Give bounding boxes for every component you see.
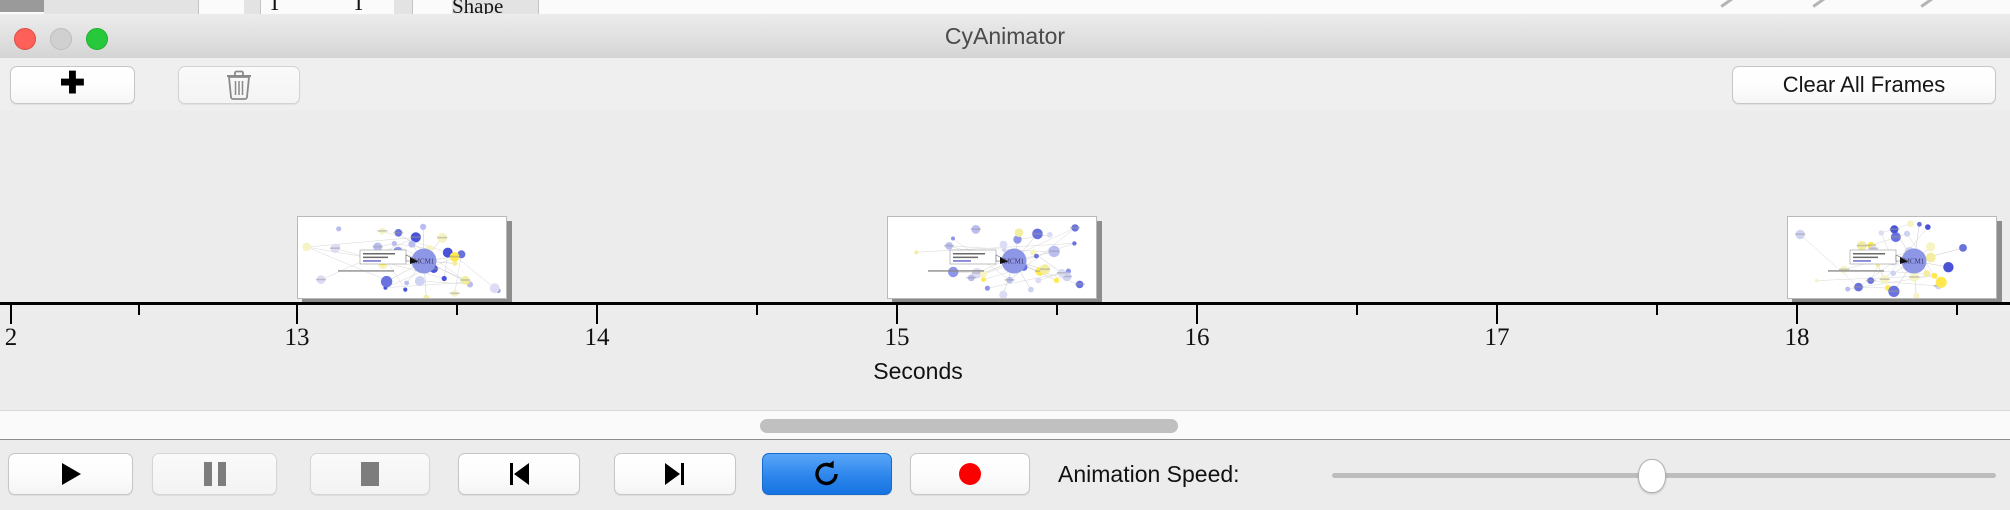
- skip-back-icon: [506, 460, 532, 488]
- axis-tick-label: 14: [585, 324, 610, 352]
- axis-tick: [456, 305, 458, 315]
- title-bar: CyAnimator: [0, 14, 2010, 59]
- skip-forward-icon: [662, 460, 688, 488]
- timeline-scrollbar-thumb[interactable]: [760, 419, 1178, 433]
- axis-tick: [1656, 305, 1658, 315]
- loop-button[interactable]: [762, 453, 892, 495]
- loop-icon: [812, 459, 842, 489]
- timeline-frame[interactable]: MCM1: [887, 216, 1102, 304]
- record-button[interactable]: [910, 453, 1030, 495]
- axis-tick: [1496, 305, 1498, 324]
- axis-tick-label: 16: [1185, 324, 1210, 352]
- axis-tick: [1356, 305, 1358, 315]
- play-icon: [58, 460, 84, 488]
- axis-title-label: Seconds: [873, 358, 963, 384]
- skip-to-start-button[interactable]: [458, 453, 580, 495]
- bg-window-word: Shape: [452, 0, 503, 15]
- axis-tick: [756, 305, 758, 315]
- axis-tick: [596, 305, 598, 324]
- axis-tick: [138, 305, 140, 315]
- clear-all-frames-label: Clear All Frames: [1783, 72, 1946, 98]
- playback-bar: Animation Speed:: [0, 441, 2010, 510]
- animation-speed-slider-thumb[interactable]: [1638, 459, 1666, 493]
- frame-thumbnail[interactable]: MCM1: [1787, 216, 1997, 299]
- axis-tick-label: 2: [5, 324, 18, 352]
- axis-tick-label: 17: [1485, 324, 1510, 352]
- axis-tick: [296, 305, 298, 324]
- axis-tick-label: 13: [285, 324, 310, 352]
- timeline-scrollbar[interactable]: [0, 410, 2010, 440]
- axis-tick-label: 18: [1785, 324, 1810, 352]
- axis-title: Seconds: [0, 358, 2010, 385]
- window-title: CyAnimator: [0, 14, 2010, 58]
- trash-icon: [226, 70, 252, 100]
- timeline-frame[interactable]: MCM1: [297, 216, 512, 304]
- axis-tick: [1056, 305, 1058, 315]
- stop-icon: [361, 462, 379, 486]
- animation-speed-slider[interactable]: [1332, 473, 1996, 478]
- pause-icon: [204, 462, 226, 486]
- stop-button[interactable]: [310, 453, 430, 495]
- skip-to-end-button[interactable]: [614, 453, 736, 495]
- timeline-panel[interactable]: MCM1MCM1MCM1 2131415161718 Seconds: [0, 110, 2010, 410]
- toolbar: ✚ Clear All Frames: [0, 58, 2010, 111]
- timeline-axis-line: [0, 302, 2010, 305]
- bg-glyph-t2: T: [352, 0, 365, 15]
- axis-tick: [10, 305, 12, 324]
- bg-glyph-t: T: [268, 0, 281, 15]
- timeline-frame[interactable]: MCM1: [1787, 216, 2002, 304]
- pause-button[interactable]: [152, 453, 277, 495]
- axis-tick-label: 15: [885, 324, 910, 352]
- background-window-strip: T T Shape: [0, 0, 2010, 15]
- cyanimator-window: T T Shape CyAnimator ✚ Clear All Frame: [0, 0, 2010, 510]
- delete-frame-button[interactable]: [178, 66, 300, 104]
- record-icon: [959, 463, 981, 485]
- animation-speed-label: Animation Speed:: [1058, 453, 1240, 495]
- frame-thumbnail[interactable]: MCM1: [297, 216, 507, 299]
- frame-thumbnail[interactable]: MCM1: [887, 216, 1097, 299]
- plus-icon: ✚: [60, 69, 85, 99]
- axis-tick: [896, 305, 898, 324]
- axis-tick: [1796, 305, 1798, 324]
- play-button[interactable]: [8, 453, 133, 495]
- clear-all-frames-button[interactable]: Clear All Frames: [1732, 66, 1996, 104]
- axis-tick: [1196, 305, 1198, 324]
- axis-tick: [1956, 305, 1958, 315]
- add-frame-button[interactable]: ✚: [10, 66, 135, 104]
